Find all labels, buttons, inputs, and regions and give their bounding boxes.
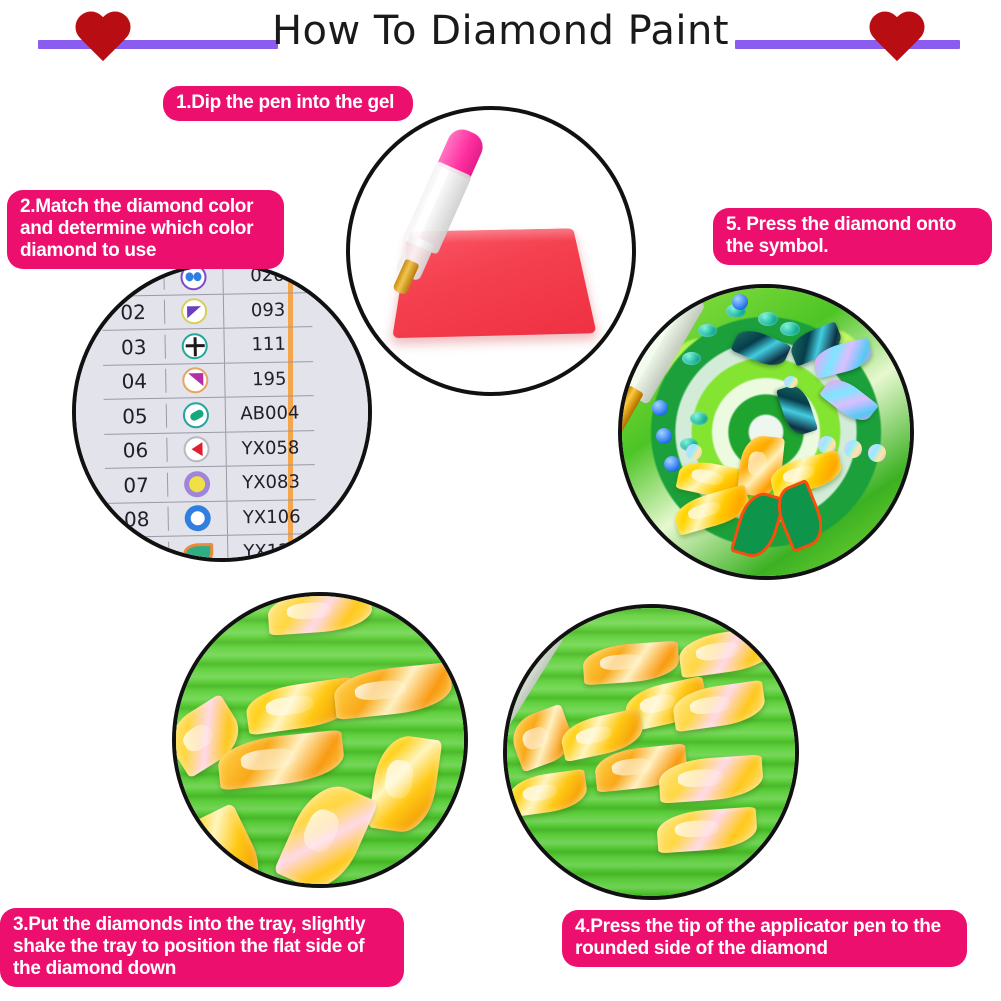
rhinestone xyxy=(656,428,672,444)
row-code: 111 xyxy=(225,333,313,356)
yellow-diamond xyxy=(267,592,374,636)
row-code: YX083 xyxy=(227,471,315,494)
row-number: 07 xyxy=(105,472,168,497)
yellow-diamond xyxy=(582,641,680,686)
rhinestone xyxy=(732,294,748,310)
table-row: 04 195 xyxy=(103,362,314,400)
infographic-canvas: How To Diamond Paint 01 026 xyxy=(0,0,1001,1001)
photo-step-4-pen-picks-diamond xyxy=(503,604,799,900)
row-number: 01 xyxy=(101,266,164,291)
mandala-canvas xyxy=(622,288,910,576)
row-code: YX125 xyxy=(228,540,316,562)
step-3-label: 3.Put the diamonds into the tray, slight… xyxy=(0,908,404,987)
green-tray xyxy=(176,596,464,884)
yellow-diamond xyxy=(368,732,443,836)
table-row: 05 AB004 xyxy=(104,396,315,434)
photo-step-3-diamonds-in-tray xyxy=(172,592,468,888)
triangle-circle-icon xyxy=(181,298,207,324)
row-number: 08 xyxy=(106,507,169,532)
dark-marquise-rhinestone xyxy=(776,382,818,438)
rhinestone xyxy=(664,456,680,472)
capsule-circle-icon xyxy=(183,402,209,428)
yellow-ring-icon xyxy=(184,471,210,497)
row-symbol-cell xyxy=(167,432,227,467)
green-leaf-icon xyxy=(183,543,213,562)
color-code-table: 01 026 02 093 03 111 04 195 xyxy=(101,262,317,562)
pie-wedge-circle-icon xyxy=(182,367,208,393)
yellow-diamond xyxy=(332,662,454,720)
row-number: 06 xyxy=(104,438,167,463)
header: How To Diamond Paint xyxy=(0,0,1001,80)
row-code: YX106 xyxy=(228,506,316,529)
photo-step-1-pen-in-gel xyxy=(346,106,636,396)
row-code: 093 xyxy=(224,299,312,322)
table-row: 02 093 xyxy=(102,293,313,331)
table-row: 06 YX058 xyxy=(104,431,315,469)
table-row: 08 YX106 xyxy=(105,500,316,538)
row-number: 03 xyxy=(103,334,166,359)
row-symbol-cell xyxy=(167,398,227,433)
rhinestone xyxy=(682,352,701,365)
yellow-diamond xyxy=(656,807,759,854)
row-code: 195 xyxy=(225,368,313,391)
rhinestone xyxy=(780,322,800,336)
row-number: 09 xyxy=(106,541,169,562)
row-symbol-cell xyxy=(165,329,225,364)
table-row: 07 YX083 xyxy=(105,465,316,503)
iridescent-marquise-rhinestone xyxy=(819,372,879,427)
yellow-diamond xyxy=(507,769,590,817)
row-code: YX058 xyxy=(226,437,314,460)
photo-1-content xyxy=(350,110,632,392)
row-number: 04 xyxy=(103,369,166,394)
row-symbol-cell xyxy=(168,467,228,502)
yellow-diamond xyxy=(273,775,378,888)
rhinestone xyxy=(758,312,778,326)
table-row: 03 111 xyxy=(102,327,313,365)
row-symbol-cell xyxy=(165,294,225,329)
rhinestone xyxy=(686,444,702,460)
yellow-diamond xyxy=(677,626,778,679)
photo-step-2-color-chart: 01 026 02 093 03 111 04 195 xyxy=(72,262,372,562)
rhinestone xyxy=(784,376,798,388)
step-4-label: 4.Press the tip of the applicator pen to… xyxy=(562,910,967,967)
row-number: 05 xyxy=(104,403,167,428)
row-symbol-cell xyxy=(169,536,229,562)
table-row: 09 YX125 xyxy=(106,534,317,562)
step-2-label: 2.Match the diamond color and determine … xyxy=(7,190,284,269)
rhinestone xyxy=(868,444,886,462)
row-code: AB004 xyxy=(226,402,314,425)
plus-circle-icon xyxy=(181,333,207,359)
chart-paper: 01 026 02 093 03 111 04 195 xyxy=(76,266,368,558)
rhinestone xyxy=(698,324,717,337)
rhinestone xyxy=(652,400,668,416)
step-1-label: 1.Dip the pen into the gel xyxy=(163,86,413,121)
row-number: 02 xyxy=(102,300,165,325)
yellow-diamond xyxy=(172,803,273,888)
step-5-label: 5. Press the diamond onto the symbol. xyxy=(713,208,992,265)
rhinestone xyxy=(844,440,862,458)
left-arrow-circle-icon xyxy=(183,436,209,462)
green-tray xyxy=(507,608,795,896)
page-title: How To Diamond Paint xyxy=(0,8,1001,54)
row-symbol-cell xyxy=(168,501,228,536)
rhinestone xyxy=(690,412,708,425)
row-symbol-cell xyxy=(166,363,226,398)
blue-ring-icon xyxy=(184,505,210,531)
photo-step-5-place-diamond-on-canvas xyxy=(618,284,914,580)
pen-tip-icon xyxy=(618,385,644,444)
